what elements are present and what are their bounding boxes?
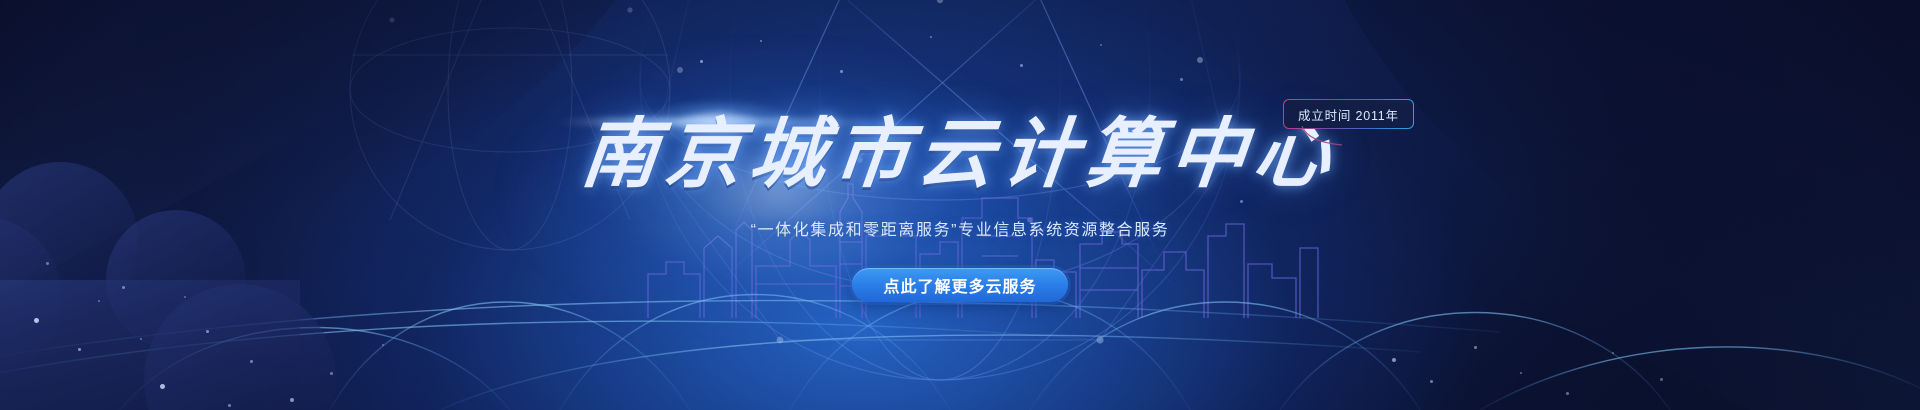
- founded-year-badge: 成立时间 2011年: [1283, 99, 1414, 129]
- hero-banner: 南京城市云计算中心 “一体化集成和零距离服务”专业信息系统资源整合服务 点此了解…: [0, 0, 1920, 410]
- badge-tail-icon: [1300, 126, 1344, 146]
- learn-more-cloud-services-button[interactable]: 点此了解更多云服务: [852, 268, 1068, 302]
- page-title: 南京城市云计算中心: [0, 116, 1920, 192]
- page-subtitle: “一体化集成和零距离服务”专业信息系统资源整合服务: [0, 216, 1920, 240]
